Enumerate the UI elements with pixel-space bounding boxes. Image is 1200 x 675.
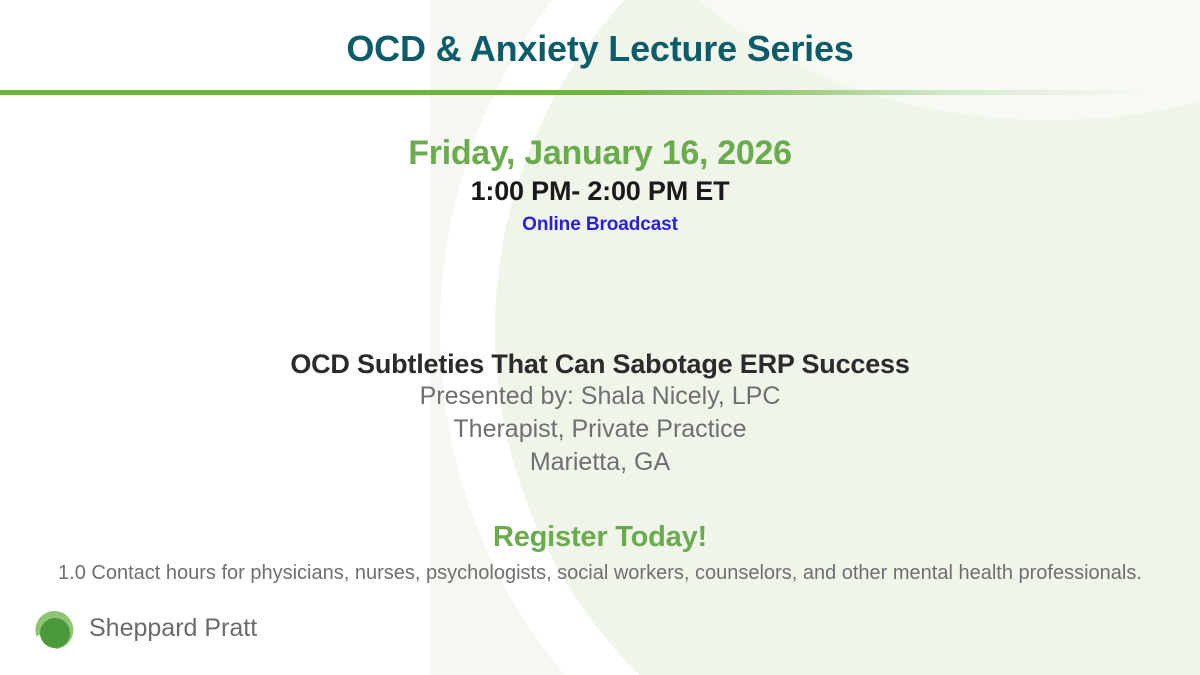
organization-name: Sheppard Pratt xyxy=(89,614,257,643)
event-time: 1:00 PM- 2:00 PM ET xyxy=(0,174,1200,209)
lecture-announcement-slide: OCD & Anxiety Lecture Series Friday, Jan… xyxy=(0,0,1200,675)
event-format: Online Broadcast xyxy=(0,213,1200,238)
session-presenter-role: Therapist, Private Practice xyxy=(0,413,1200,446)
session-details: OCD Subtleties That Can Sabotage ERP Suc… xyxy=(0,348,1200,479)
register-heading[interactable]: Register Today! xyxy=(0,520,1200,555)
session-presenter: Presented by: Shala Nicely, LPC xyxy=(0,380,1200,413)
event-details: Friday, January 16, 2026 1:00 PM- 2:00 P… xyxy=(0,134,1200,238)
registration-callout: Register Today! 1.0 Contact hours for ph… xyxy=(0,520,1200,586)
session-presenter-location: Marietta, GA xyxy=(0,446,1200,479)
session-title: OCD Subtleties That Can Sabotage ERP Suc… xyxy=(0,348,1200,380)
header-divider xyxy=(0,90,1200,95)
contact-hours-text: 1.0 Contact hours for physicians, nurses… xyxy=(30,561,1170,587)
sheppard-pratt-circle-logo-icon xyxy=(28,602,80,654)
event-date: Friday, January 16, 2026 xyxy=(0,134,1200,172)
page-title: OCD & Anxiety Lecture Series xyxy=(0,28,1200,70)
brand-logo: Sheppard Pratt xyxy=(28,602,257,654)
